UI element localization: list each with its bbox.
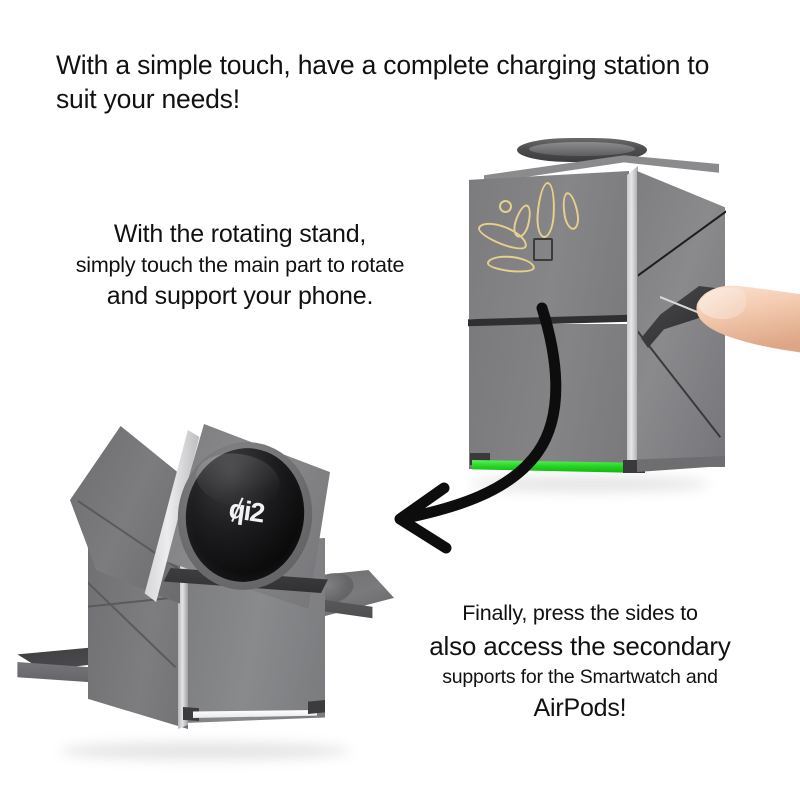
infographic-poster: With a simple touch, have a complete cha… — [0, 0, 800, 800]
qi2-logo-suffix: 2 — [248, 497, 266, 529]
final-callout-line-3: supports for the Smartwatch and — [385, 663, 775, 692]
sparkle-ray-3 — [560, 191, 581, 231]
rotating-stand-callout: With the rotating stand, simply touch th… — [20, 218, 460, 313]
sparkle-dot — [499, 200, 512, 213]
headline-text: With a simple touch, have a complete cha… — [56, 48, 756, 116]
rotating-callout-line-2: simply touch the main part to rotate — [20, 251, 460, 280]
top-charging-ring-inner — [529, 142, 635, 156]
final-callout-line-4: AirPods! — [385, 692, 775, 725]
pressing-finger — [687, 270, 800, 366]
head-left-seam — [70, 426, 180, 611]
lower-charging-station: qi2 — [10, 418, 400, 788]
touch-sparkle-burst — [475, 180, 595, 290]
sparkle-ray-5 — [486, 254, 535, 275]
final-callout-line-2: also access the secondary — [385, 629, 775, 663]
rotating-callout-line-1: With the rotating stand, — [20, 218, 460, 251]
final-callout: Finally, press the sides to also access … — [385, 598, 775, 725]
sparkle-ray-2 — [535, 181, 557, 238]
square-touch-button[interactable] — [533, 238, 553, 261]
final-callout-line-1: Finally, press the sides to — [385, 598, 775, 629]
base-foot-right — [308, 700, 325, 714]
flow-arrow — [370, 300, 670, 590]
